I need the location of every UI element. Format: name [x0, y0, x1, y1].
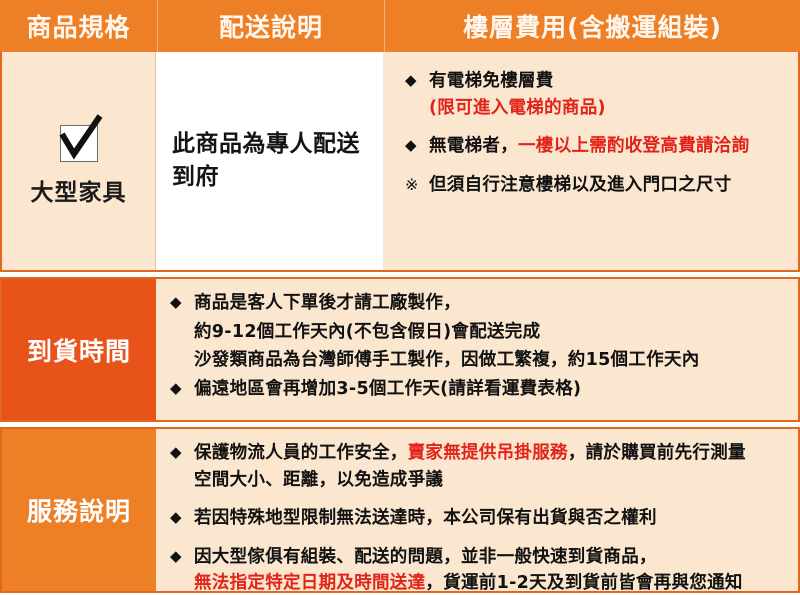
header-cell-product-spec: 商品規格 — [0, 0, 158, 52]
fee-bullet-1-text: 有電梯免樓層費 (限可進入電梯的商品) — [429, 68, 788, 121]
list-item: ◆ 若因特殊地型限制無法送達時，本公司保有出貨與否之權利 — [170, 505, 788, 532]
arrival-item-2-line1: 偏遠地區會再增加3-5個工作天(請詳看運費表格) — [194, 376, 788, 403]
cell-floor-fee-notes: ◆ 有電梯免樓層費 (限可進入電梯的商品) ◆ 無電梯者，一樓以上需酌收登高費請… — [383, 52, 798, 270]
list-item: ◆ 保護物流人員的工作安全，賣家無提供吊掛服務，請於購買前先行測量空間大小、距離… — [170, 440, 788, 493]
checked-checkbox-icon — [56, 115, 102, 161]
arrival-item-1-line2: 約9-12個工作天內(不包含假日)會配送完成 — [170, 319, 788, 346]
list-item: ◆ 因大型傢俱有組裝、配送的問題，並非一般快速到貨商品，無法指定特定日期及時間送… — [170, 544, 788, 593]
fee-bullet-2-text: 無電梯者，一樓以上需酌收登高費請洽詢 — [429, 133, 788, 160]
diamond-bullet-icon: ◆ — [170, 440, 194, 464]
service-item-1-seg2: 賣家無提供吊掛服務 — [408, 443, 568, 463]
diamond-bullet-icon: ◆ — [170, 290, 194, 314]
table-row-product-spec: 大型家具 此商品為專人配送到府 ◆ 有電梯免樓層費 (限可進入電梯的商品) ◆ … — [0, 52, 800, 272]
diamond-bullet-icon: ◆ — [405, 68, 429, 92]
check-mark-icon — [50, 109, 108, 167]
service-item-1-seg1: 保護物流人員的工作安全， — [194, 443, 408, 463]
header-cell-delivery-note: 配送說明 — [158, 0, 385, 52]
cell-large-furniture: 大型家具 — [2, 52, 156, 270]
service-item-3-text: 因大型傢俱有組裝、配送的問題，並非一般快速到貨商品，無法指定特定日期及時間送達，… — [194, 544, 788, 593]
service-item-3-line2-tail: ，貨運前1-2天及到貨前皆會再與您通知 — [425, 573, 742, 593]
diamond-bullet-icon: ◆ — [170, 544, 194, 568]
service-item-1-seg3: ，請於購買前先行測量 — [568, 443, 746, 463]
service-item-2-text: 若因特殊地型限制無法送達時，本公司保有出貨與否之權利 — [194, 505, 788, 532]
list-item: ◆ 偏遠地區會再增加3-5個工作天(請詳看運費表格) — [170, 376, 788, 403]
list-item: ◆ 無電梯者，一樓以上需酌收登高費請洽詢 — [405, 133, 788, 160]
service-item-3-line1: 因大型傢俱有組裝、配送的問題，並非一般快速到貨商品， — [194, 547, 657, 567]
shipping-policy-table: 商品規格 配送說明 樓層費用(含搬運組裝) 大型家具 此商品為專人配送到府 ◆ — [0, 0, 800, 595]
label-arrival-time: 到貨時間 — [2, 279, 156, 420]
delivery-description-text: 此商品為專人配送到府 — [172, 128, 367, 195]
cell-service-notes: ◆ 保護物流人員的工作安全，賣家無提供吊掛服務，請於購買前先行測量空間大小、距離… — [156, 429, 798, 591]
diamond-bullet-icon: ◆ — [405, 133, 429, 157]
service-item-3-red: 無法指定特定日期及時間送達 — [194, 573, 425, 593]
cell-delivery-description: 此商品為專人配送到府 — [156, 52, 383, 270]
label-service-notes: 服務說明 — [2, 429, 156, 591]
service-item-1-text: 保護物流人員的工作安全，賣家無提供吊掛服務，請於購買前先行測量空間大小、距離，以… — [194, 440, 788, 493]
diamond-bullet-icon: ◆ — [170, 376, 194, 400]
list-item: ◆ 有電梯免樓層費 (限可進入電梯的商品) — [405, 68, 788, 121]
arrival-item-1-line3: 沙發類商品為台灣師傅手工製作，因做工繁複，約15個工作天內 — [170, 347, 788, 374]
list-item: ※ 但須自行注意樓梯以及進入門口之尺寸 — [405, 172, 788, 199]
table-header-row: 商品規格 配送說明 樓層費用(含搬運組裝) — [0, 0, 800, 52]
cell-arrival-time-notes: ◆ 商品是客人下單後才請工廠製作， 約9-12個工作天內(不包含假日)會配送完成… — [156, 279, 798, 420]
arrival-item-1-line1: 商品是客人下單後才請工廠製作， — [194, 290, 788, 317]
list-item: ◆ 商品是客人下單後才請工廠製作， — [170, 290, 788, 317]
diamond-bullet-icon: ◆ — [170, 505, 194, 529]
fee-bullet-2-pre: 無電梯者， — [429, 136, 518, 156]
fee-bullet-1-line2: (限可進入電梯的商品) — [429, 98, 606, 118]
table-row-arrival-time: 到貨時間 ◆ 商品是客人下單後才請工廠製作， 約9-12個工作天內(不包含假日)… — [0, 277, 800, 422]
fee-bullet-2-red: 一樓以上需酌收登高費請洽詢 — [518, 136, 749, 156]
service-item-1-line2: 空間大小、距離，以免造成爭議 — [194, 470, 443, 490]
large-furniture-label: 大型家具 — [31, 173, 127, 207]
reference-mark-icon: ※ — [405, 172, 429, 198]
fee-bullet-3-text: 但須自行注意樓梯以及進入門口之尺寸 — [429, 172, 788, 199]
header-cell-floor-fee: 樓層費用(含搬運組裝) — [385, 0, 800, 52]
fee-bullet-1-line1: 有電梯免樓層費 — [429, 71, 554, 91]
table-row-service-notes: 服務說明 ◆ 保護物流人員的工作安全，賣家無提供吊掛服務，請於購買前先行測量空間… — [0, 427, 800, 593]
